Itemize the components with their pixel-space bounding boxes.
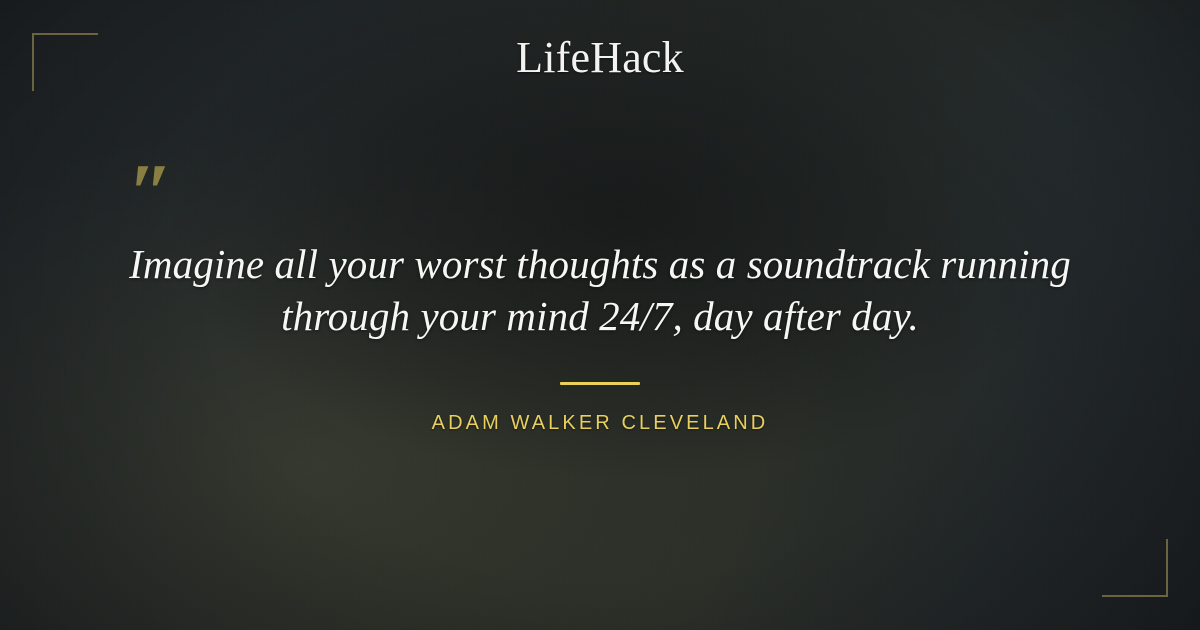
lifehack-logo[interactable]: LifeHack (0, 36, 1200, 80)
quote-card: LifeHack ″ Imagine all your worst though… (0, 0, 1200, 630)
quote-line-2: through your mind 24/7, day after day. (90, 290, 1110, 342)
quote-line-1: Imagine all your worst thoughts as a sou… (90, 238, 1110, 290)
quotation-mark-icon: ″ (128, 152, 173, 234)
quote-block: Imagine all your worst thoughts as a sou… (90, 238, 1110, 342)
quote-author: ADAM WALKER CLEVELAND (0, 412, 1200, 435)
gold-divider (560, 382, 640, 385)
